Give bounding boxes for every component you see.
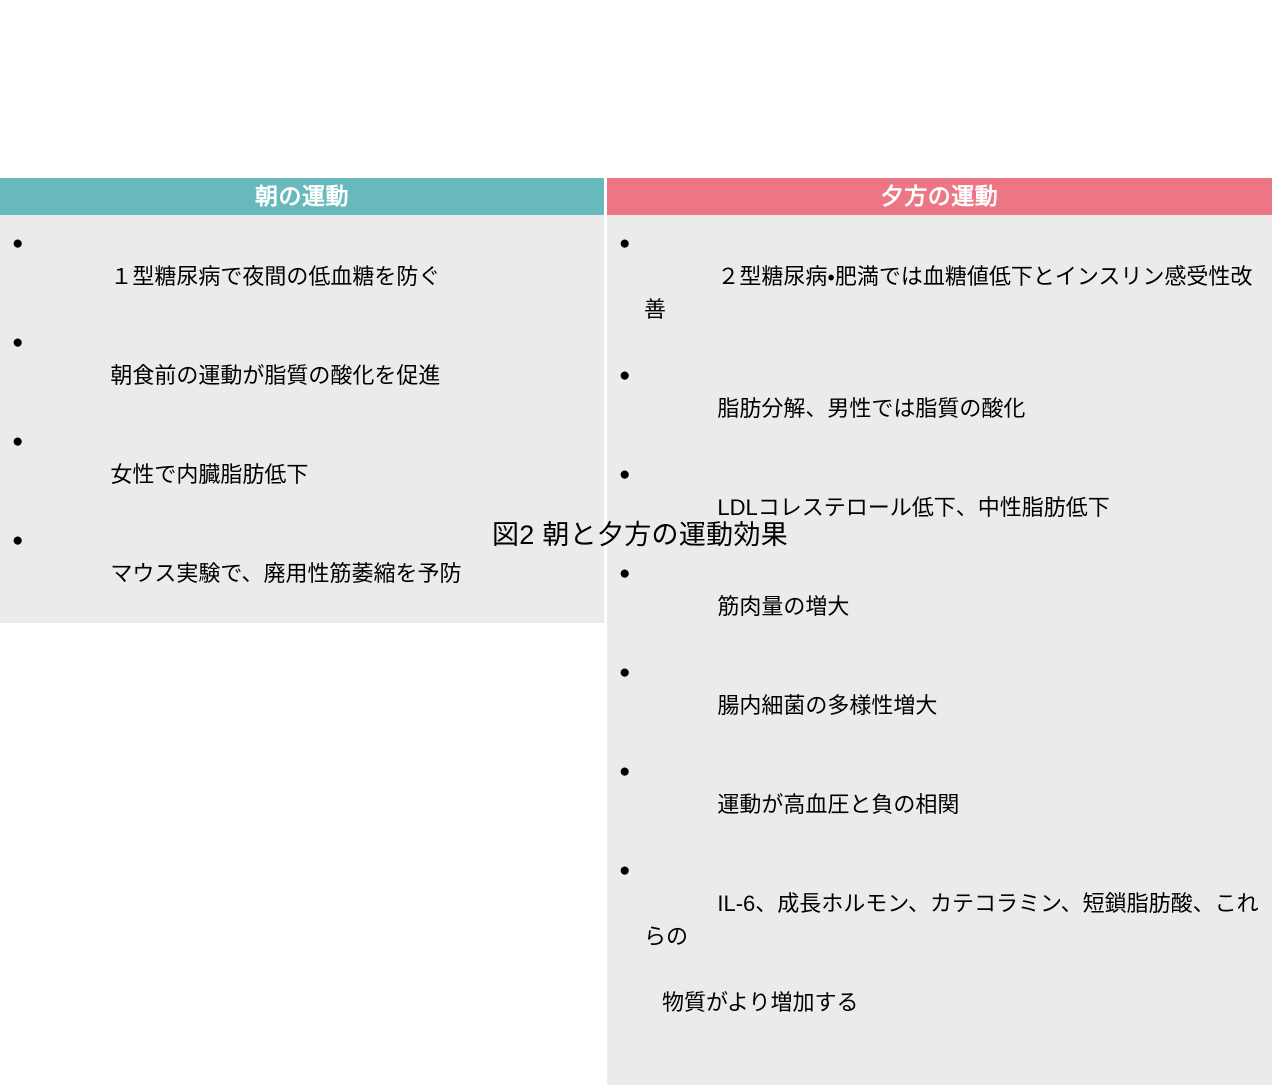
bullet-text: 女性で内臓脂肪低下 <box>110 462 308 487</box>
slide-canvas: 朝の運動 １型糖尿病で夜間の低血糖を防ぐ 朝食前の運動が脂質の酸化を促進 女性で… <box>0 0 1280 720</box>
bullet-text: １型糖尿病で夜間の低血糖を防ぐ <box>110 264 440 289</box>
figure-caption: 図2 朝と夕方の運動効果 <box>0 518 1280 552</box>
column-header-morning: 朝の運動 <box>0 178 604 215</box>
bullet-text: ２型糖尿病・肥満では血糖値低下とインスリン感受性改善 <box>644 264 1252 322</box>
bullet-list-morning: １型糖尿病で夜間の低血糖を防ぐ 朝食前の運動が脂質の酸化を促進 女性で内臓脂肪低… <box>0 227 604 623</box>
column-body-morning: １型糖尿病で夜間の低血糖を防ぐ 朝食前の運動が脂質の酸化を促進 女性で内臓脂肪低… <box>0 215 604 623</box>
bullet-text: 脂肪分解、男性では脂質の酸化 <box>717 396 1025 421</box>
bullet-text: 運動が高血圧と負の相関 <box>717 792 959 817</box>
list-item: IL-6、成長ホルモン、カテコラミン、短鎖脂肪酸、これらの 物質がより増加する <box>615 854 1272 1085</box>
list-item: 運動が高血圧と負の相関 <box>615 755 1272 854</box>
list-item: 女性で内臓脂肪低下 <box>0 425 604 524</box>
bullet-text: 筋肉量の増大 <box>717 594 849 619</box>
bullet-text: 朝食前の運動が脂質の酸化を促進 <box>110 363 440 388</box>
list-item: 脂肪分解、男性では脂質の酸化 <box>615 359 1272 458</box>
bullet-text-continuation: 物質がより増加する <box>644 986 1272 1019</box>
list-item: １型糖尿病で夜間の低血糖を防ぐ <box>0 227 604 326</box>
list-item: 腸内細菌の多様性増大 <box>615 656 1272 755</box>
comparison-table: 朝の運動 １型糖尿病で夜間の低血糖を防ぐ 朝食前の運動が脂質の酸化を促進 女性で… <box>0 178 1272 494</box>
table-column-evening: 夕方の運動 ２型糖尿病・肥満では血糖値低下とインスリン感受性改善 脂肪分解、男性… <box>607 178 1272 494</box>
bullet-text: LDLコレステロール低下、中性脂肪低下 <box>717 495 1109 520</box>
bullet-list-evening: ２型糖尿病・肥満では血糖値低下とインスリン感受性改善 脂肪分解、男性では脂質の酸… <box>607 227 1272 1085</box>
column-header-evening: 夕方の運動 <box>607 178 1272 215</box>
column-body-evening: ２型糖尿病・肥満では血糖値低下とインスリン感受性改善 脂肪分解、男性では脂質の酸… <box>607 215 1272 1085</box>
bullet-text: IL-6、成長ホルモン、カテコラミン、短鎖脂肪酸、これらの <box>644 891 1259 949</box>
list-item: ２型糖尿病・肥満では血糖値低下とインスリン感受性改善 <box>615 227 1272 359</box>
list-item: 筋肉量の増大 <box>615 557 1272 656</box>
bullet-text: マウス実験で、廃用性筋萎縮を予防 <box>110 561 461 586</box>
bullet-text: 腸内細菌の多様性増大 <box>717 693 937 718</box>
table-column-morning: 朝の運動 １型糖尿病で夜間の低血糖を防ぐ 朝食前の運動が脂質の酸化を促進 女性で… <box>0 178 604 494</box>
list-item: 朝食前の運動が脂質の酸化を促進 <box>0 326 604 425</box>
